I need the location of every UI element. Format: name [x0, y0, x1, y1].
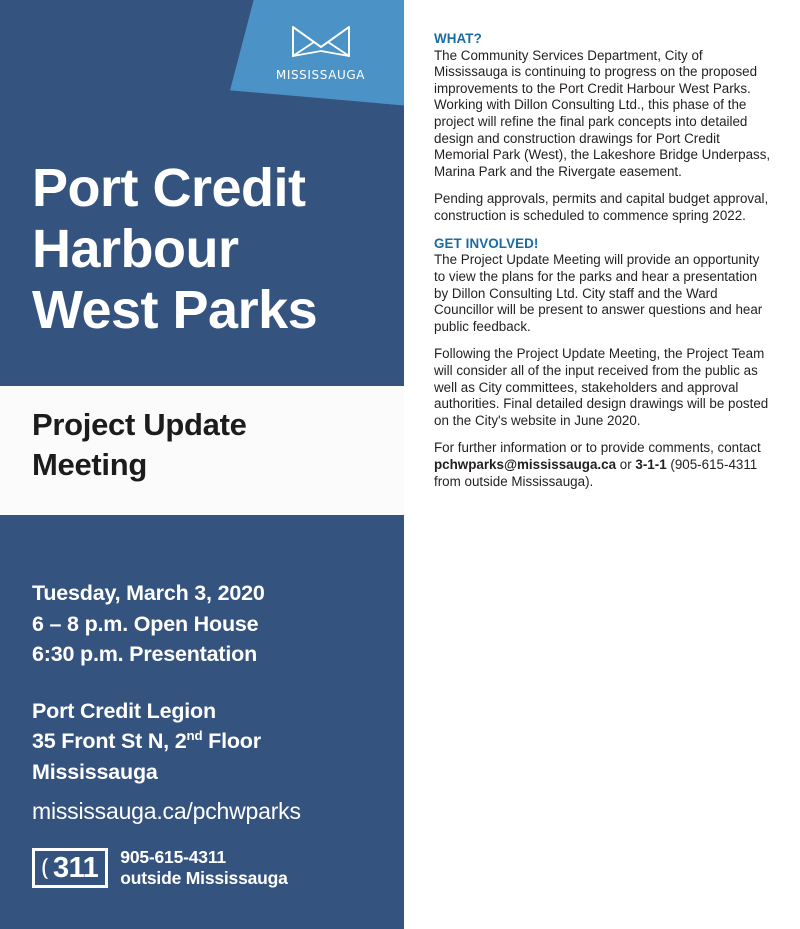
- mississauga-m-logo-icon: [290, 22, 352, 60]
- event-details: Tuesday, March 3, 2020 6 – 8 p.m. Open H…: [32, 578, 392, 813]
- contact-mid-text: or: [616, 457, 635, 472]
- subtitle-line-1: Project Update: [32, 405, 382, 445]
- get-involved-heading: GET INVOLVED!: [434, 236, 538, 251]
- contact-311-row: 311 905-615-4311 outside Mississauga: [32, 847, 288, 889]
- poster: MISSISSAUGA Port Credit Harbour West Par…: [0, 0, 800, 929]
- contact-email[interactable]: pchwparks@mississauga.ca: [434, 457, 616, 472]
- venue-address: 35 Front St N, 2nd Floor: [32, 726, 392, 757]
- venue-address-main: 35 Front St N, 2: [32, 729, 187, 753]
- contact-paragraph: For further information or to provide co…: [434, 440, 774, 490]
- phone-handset-icon: [40, 857, 51, 880]
- city-logo: MISSISSAUGA: [258, 22, 383, 83]
- event-presentation-time: 6:30 p.m. Presentation: [32, 639, 392, 670]
- event-datetime: Tuesday, March 3, 2020 6 – 8 p.m. Open H…: [32, 578, 392, 670]
- page-title: Port Credit Harbour West Parks: [32, 158, 382, 341]
- contact-lead-text: For further information or to provide co…: [434, 440, 761, 455]
- event-location: Port Credit Legion 35 Front St N, 2nd Fl…: [32, 696, 392, 788]
- get-involved-paragraph-2: Following the Project Update Meeting, th…: [434, 346, 768, 427]
- get-involved-paragraph-2-wrap: Following the Project Update Meeting, th…: [434, 346, 774, 429]
- what-paragraph-1: The Community Services Department, City …: [434, 48, 770, 179]
- title-line-2: Harbour: [32, 219, 382, 280]
- 311-phone-number: 905-615-4311: [120, 847, 287, 868]
- body-copy: WHAT? The Community Services Department,…: [434, 31, 774, 501]
- subtitle-line-2: Meeting: [32, 445, 382, 485]
- title-line-3: West Parks: [32, 280, 382, 341]
- website-link[interactable]: mississauga.ca/pchwparks: [32, 798, 301, 825]
- logo-wordmark: MISSISSAUGA: [258, 64, 383, 83]
- what-paragraph-2-wrap: Pending approvals, permits and capital b…: [434, 191, 774, 224]
- what-paragraph-2: Pending approvals, permits and capital b…: [434, 191, 768, 223]
- what-section: WHAT? The Community Services Department,…: [434, 31, 774, 180]
- left-panel: MISSISSAUGA Port Credit Harbour West Par…: [0, 0, 404, 929]
- 311-badge[interactable]: 311: [32, 848, 108, 888]
- event-date: Tuesday, March 3, 2020: [32, 578, 392, 609]
- 311-phone-note: outside Mississauga: [120, 868, 287, 889]
- get-involved-paragraph-1: The Project Update Meeting will provide …: [434, 252, 762, 333]
- venue-address-tail: Floor: [202, 729, 261, 753]
- venue-address-ordinal: nd: [187, 728, 203, 743]
- what-heading: WHAT?: [434, 31, 482, 46]
- page-subtitle: Project Update Meeting: [32, 405, 382, 484]
- title-line-1: Port Credit: [32, 158, 382, 219]
- 311-phone-info: 905-615-4311 outside Mississauga: [120, 847, 287, 889]
- get-involved-section: GET INVOLVED! The Project Update Meeting…: [434, 236, 774, 336]
- right-panel: WHAT? The Community Services Department,…: [404, 0, 800, 929]
- contact-311: 3-1-1: [635, 457, 666, 472]
- event-openhouse-time: 6 – 8 p.m. Open House: [32, 609, 392, 640]
- venue-city: Mississauga: [32, 757, 392, 788]
- 311-number: 311: [53, 854, 98, 883]
- venue-name: Port Credit Legion: [32, 696, 392, 727]
